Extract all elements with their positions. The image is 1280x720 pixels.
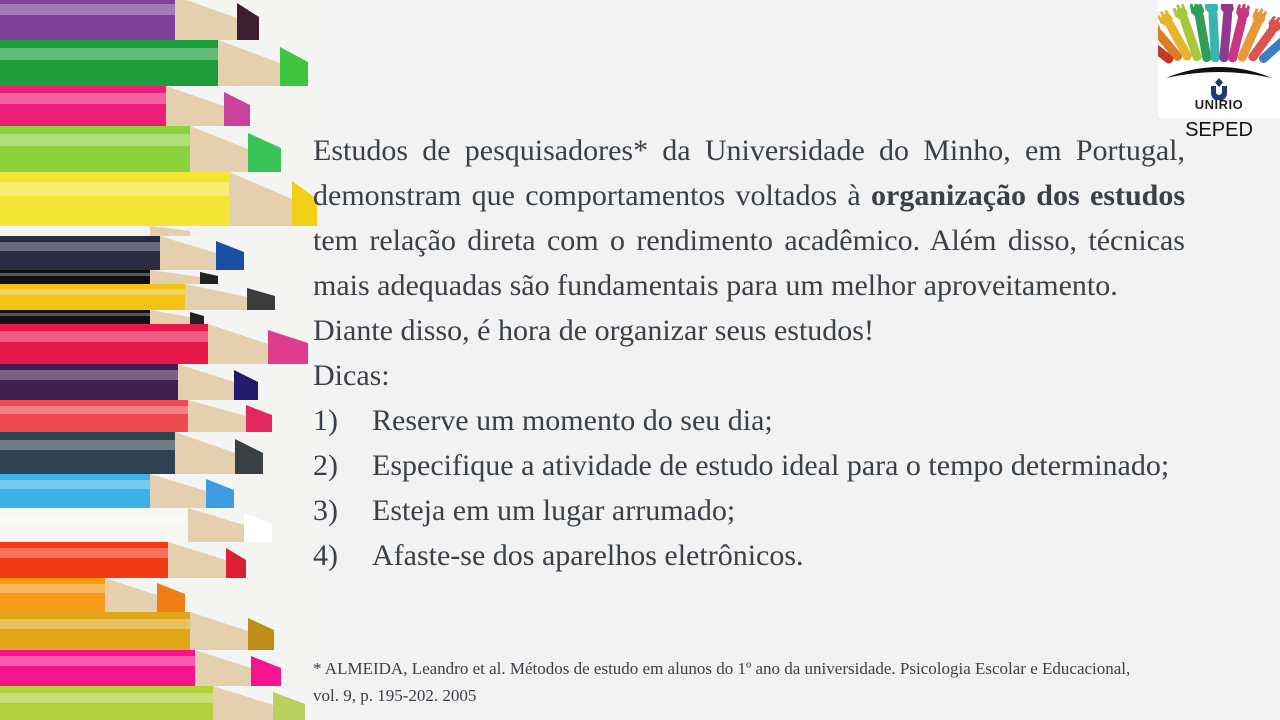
- pencil-barrel: [0, 432, 175, 474]
- slide-canvas: UNIRIO SEPED Estudos de pesquisadores* d…: [0, 0, 1280, 720]
- pencil-barrel: [0, 324, 208, 364]
- call-to-action: Diante disso, é hora de organizar seus e…: [313, 308, 1185, 353]
- pencil: [0, 86, 320, 126]
- intro-paragraph: Estudos de pesquisadores* da Universidad…: [313, 128, 1185, 308]
- pencil-barrel: [0, 542, 168, 578]
- pencil-barrel: [0, 578, 105, 612]
- raised-hands-icon: [1158, 4, 1280, 82]
- list-item-marker: 2): [313, 443, 372, 488]
- pencil-barrel: [0, 284, 185, 310]
- list-item: 4)Afaste-se dos aparelhos eletrônicos.: [313, 533, 1185, 578]
- pencil: [0, 284, 320, 310]
- pencil-barrel: [0, 172, 229, 226]
- pencil: [0, 686, 320, 720]
- intro-paragraph-part2: tem relação direta com o rendimento acad…: [313, 224, 1185, 302]
- pencil-barrel: [0, 508, 188, 542]
- pencil: [0, 226, 320, 236]
- pencil: [0, 578, 320, 612]
- pencil-barrel: [0, 474, 150, 508]
- list-item-marker: 1): [313, 398, 372, 443]
- pencil: [0, 612, 320, 650]
- pencil-barrel: [0, 0, 175, 40]
- pencil: [0, 236, 320, 270]
- intro-paragraph-highlight: organização dos estudos: [871, 179, 1185, 212]
- pencil: [0, 432, 320, 474]
- pencil: [0, 474, 320, 508]
- pencil: [0, 508, 320, 542]
- pencil: [0, 364, 320, 400]
- pencil-barrel: [0, 226, 150, 236]
- pencil-barrel: [0, 40, 218, 86]
- list-item-text: Afaste-se dos aparelhos eletrônicos.: [372, 533, 804, 578]
- footnote-reference: * ALMEIDA, Leandro et al. Métodos de est…: [313, 655, 1185, 709]
- colored-pencils-image: [0, 0, 320, 720]
- pencil: [0, 310, 320, 324]
- list-item: 3)Esteja em um lugar arrumado;: [313, 488, 1185, 533]
- pencil-barrel: [0, 686, 213, 720]
- pencil: [0, 650, 320, 686]
- pencil: [0, 172, 320, 226]
- pencil: [0, 400, 320, 432]
- list-item-text: Especifique a atividade de estudo ideal …: [372, 443, 1169, 488]
- pencil-barrel: [0, 650, 195, 686]
- pencil-barrel: [0, 126, 190, 172]
- footnote-line-2: vol. 9, p. 195-202. 2005: [313, 682, 1185, 709]
- pencil-wood: [213, 686, 276, 720]
- pencil-lead-tip: [273, 692, 308, 720]
- slide-body: Estudos de pesquisadores* da Universidad…: [313, 128, 1185, 578]
- list-item-marker: 3): [313, 488, 372, 533]
- list-item-marker: 4): [313, 533, 372, 578]
- pencil-barrel: [0, 86, 166, 126]
- list-item-text: Esteja em um lugar arrumado;: [372, 488, 735, 533]
- pencil-barrel: [0, 270, 150, 284]
- unirio-wordmark: UNIRIO: [1158, 97, 1280, 112]
- pencil: [0, 542, 320, 578]
- pencil-barrel: [0, 236, 160, 270]
- pencil-barrel: [0, 364, 178, 400]
- pencil: [0, 126, 320, 172]
- pencil: [0, 324, 320, 364]
- tips-list: 1)Reserve um momento do seu dia; 2)Espec…: [313, 398, 1185, 578]
- unirio-logo: UNIRIO: [1158, 0, 1280, 118]
- pencil-barrel: [0, 310, 150, 324]
- pencil: [0, 40, 320, 86]
- pencil-barrel: [0, 612, 190, 650]
- tips-label: Dicas:: [313, 353, 1185, 398]
- pencil-barrel: [0, 400, 188, 432]
- list-item: 1)Reserve um momento do seu dia;: [313, 398, 1185, 443]
- list-item: 2)Especifique a atividade de estudo idea…: [313, 443, 1185, 488]
- pencil: [0, 270, 320, 284]
- footnote-line-1: * ALMEIDA, Leandro et al. Métodos de est…: [313, 655, 1185, 682]
- pencil: [0, 0, 320, 40]
- list-item-text: Reserve um momento do seu dia;: [372, 398, 773, 443]
